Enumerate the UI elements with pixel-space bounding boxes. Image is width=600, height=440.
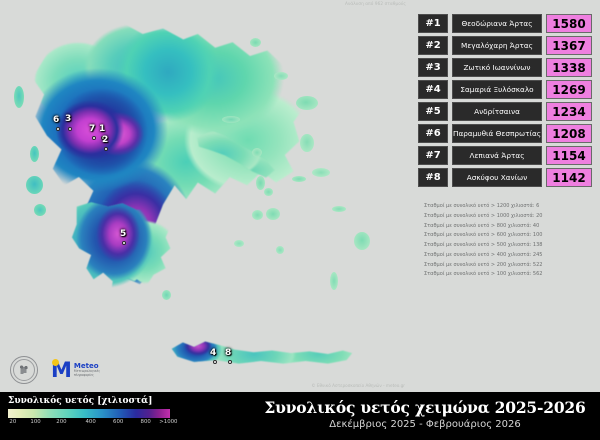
station-marker[interactable]	[68, 127, 72, 131]
stat-line: Σταθμοί με συνολικό υετό > 400 χιλιοστά:…	[424, 251, 592, 261]
euboea-island	[192, 128, 278, 190]
island-kos	[332, 206, 346, 212]
rainfall-value: 1234	[546, 102, 592, 121]
stat-line: Σταθμοί με συνολικό υετό > 200 χιλιοστά:…	[424, 261, 592, 271]
colorbar-tick: >1000	[159, 419, 177, 425]
island-lesvos	[296, 96, 318, 110]
rank-badge: #7	[418, 146, 448, 165]
footer-title-block: Συνολικός υετός χειμώνα 2025-2026 Δεκέμβ…	[260, 398, 590, 430]
station-marker[interactable]	[92, 136, 96, 140]
colorbar-gradient	[8, 409, 170, 418]
stat-line: Σταθμοί με συνολικό υετό > 600 χιλιοστά:…	[424, 231, 592, 241]
island-corfu	[14, 86, 24, 108]
meteo-tagline-line2: πληροφορίες	[74, 374, 100, 377]
rank-badge: #4	[418, 80, 448, 99]
colorbar-tick: 800	[141, 419, 151, 425]
table-row[interactable]: #8 Ασκύφου Χανίων 1142	[418, 168, 592, 187]
stat-line: Σταθμοί με συνολικό υετό > 100 χιλιοστά:…	[424, 270, 592, 280]
station-label: 6	[53, 116, 59, 125]
rainfall-value: 1208	[546, 124, 592, 143]
colorbar-tick: 600	[113, 419, 123, 425]
table-row[interactable]: #6 Παραμυθιά Θεσπρωτίας 1208	[418, 124, 592, 143]
island-tinos	[264, 188, 273, 196]
rainfall-value: 1154	[546, 146, 592, 165]
colorbar-tick: 400	[85, 419, 95, 425]
rainfall-value: 1142	[546, 168, 592, 187]
precipitation-map-infographic: 6 3 7 1 2 5 4 8 Ανάλυση από 962 σταθμούς…	[0, 0, 600, 440]
rainfall-value: 1580	[546, 14, 592, 33]
station-label: 3	[65, 115, 71, 124]
island-chios	[300, 134, 314, 152]
rank-badge: #3	[418, 58, 448, 77]
island-zakynthos	[34, 204, 46, 216]
table-row[interactable]: #2 Μεγαλόχαρη Άρτας 1367	[418, 36, 592, 55]
island-kefalonia	[26, 176, 43, 194]
legend-title: Συνολικός υετός [χιλιοστά]	[8, 396, 180, 406]
footer-bar: Συνολικός υετός [χιλιοστά] 20 100 200 40…	[0, 392, 600, 440]
rainfall-value: 1367	[546, 36, 592, 55]
island-karpathos	[330, 272, 338, 290]
stat-line: Σταθμοί με συνολικό υετό > 1000 χιλιοστά…	[424, 212, 592, 222]
station-name: Ασκύφου Χανίων	[452, 168, 542, 187]
logo-group: M Meteo Μετεωρολογικές πληροφορίες	[10, 356, 100, 384]
station-name: Ζωτικό Ιωαννίνων	[452, 58, 542, 77]
island-lefkada	[30, 146, 39, 162]
island-andros	[256, 176, 265, 190]
station-name: Παραμυθιά Θεσπρωτίας	[452, 124, 542, 143]
rank-badge: #2	[418, 36, 448, 55]
station-marker[interactable]	[122, 241, 126, 245]
colorbar-tick: 200	[56, 419, 66, 425]
observatory-seal-icon	[10, 356, 38, 384]
rainfall-value: 1338	[546, 58, 592, 77]
island-limnos	[274, 72, 288, 80]
colorbar-ticks: 20 100 200 400 600 800 >1000	[8, 419, 170, 430]
threshold-statistics: Σταθμοί με συνολικό υετό > 1200 χιλιοστά…	[418, 202, 592, 280]
island-samos	[312, 168, 330, 177]
island-kythira	[162, 290, 171, 300]
station-marker[interactable]	[104, 147, 108, 151]
station-name: Θεοδώριανα Άρτας	[452, 14, 542, 33]
rank-badge: #5	[418, 102, 448, 121]
meteo-sun-dot-icon	[52, 359, 59, 366]
island-skiathos-group	[222, 116, 240, 123]
station-marker[interactable]	[213, 360, 217, 364]
analysis-credit-top: Ανάλυση από 962 σταθμούς	[345, 1, 406, 6]
station-name: Σαμαριά Ξυλόσκαλο	[452, 80, 542, 99]
colorbar-tick: 20	[9, 419, 16, 425]
page-title: Συνολικός υετός χειμώνα 2025-2026	[260, 398, 590, 417]
table-row[interactable]: #1 Θεοδώριανα Άρτας 1580	[418, 14, 592, 33]
map-panel[interactable]: 6 3 7 1 2 5 4 8 Ανάλυση από 962 σταθμούς…	[0, 0, 410, 392]
rainfall-value: 1269	[546, 80, 592, 99]
rank-badge: #8	[418, 168, 448, 187]
island-naxos	[266, 208, 280, 220]
station-label: 4	[210, 349, 216, 358]
table-row[interactable]: #7 Λεπιανά Άρτας 1154	[418, 146, 592, 165]
island-rhodes	[354, 232, 370, 250]
station-label: 5	[120, 230, 126, 239]
station-marker[interactable]	[228, 360, 232, 364]
rank-badge: #1	[418, 14, 448, 33]
station-marker[interactable]	[56, 127, 60, 131]
island-paros	[252, 210, 263, 220]
island-skyros	[252, 148, 262, 157]
crete-island	[168, 332, 354, 376]
island-santorini	[276, 246, 284, 254]
table-row[interactable]: #4 Σαμαριά Ξυλόσκαλο 1269	[418, 80, 592, 99]
page-subtitle: Δεκέμβριος 2025 - Φεβρουάριος 2026	[260, 419, 590, 430]
island-ikaria	[292, 176, 306, 182]
station-label: 8	[225, 349, 231, 358]
station-name: Ανδρίτσαινα	[452, 102, 542, 121]
stat-line: Σταθμοί με συνολικό υετό > 1200 χιλιοστά…	[424, 202, 592, 212]
island-thasos	[250, 38, 261, 47]
station-label: 2	[102, 136, 108, 145]
stat-line: Σταθμοί με συνολικό υετό > 800 χιλιοστά:…	[424, 222, 592, 232]
station-name: Μεγαλόχαρη Άρτας	[452, 36, 542, 55]
source-credit-bottom: © Εθνικό Αστεροσκοπείο Αθηνών - meteo.gr	[311, 383, 405, 388]
meteo-logo[interactable]: M Meteo Μετεωρολογικές πληροφορίες	[50, 360, 100, 381]
station-label: 7	[89, 125, 95, 134]
ranking-table-panel: #1 Θεοδώριανα Άρτας 1580 #2 Μεγαλόχαρη Ά…	[410, 0, 600, 392]
rank-badge: #6	[418, 124, 448, 143]
table-row[interactable]: #5 Ανδρίτσαινα 1234	[418, 102, 592, 121]
station-label: 1	[99, 125, 105, 134]
island-milos	[234, 240, 244, 247]
colorbar-tick: 100	[30, 419, 40, 425]
station-name: Λεπιανά Άρτας	[452, 146, 542, 165]
stat-line: Σταθμοί με συνολικό υετό > 500 χιλιοστά:…	[424, 241, 592, 251]
table-row[interactable]: #3 Ζωτικό Ιωαννίνων 1338	[418, 58, 592, 77]
colorbar-legend: Συνολικός υετός [χιλιοστά] 20 100 200 40…	[8, 396, 180, 430]
